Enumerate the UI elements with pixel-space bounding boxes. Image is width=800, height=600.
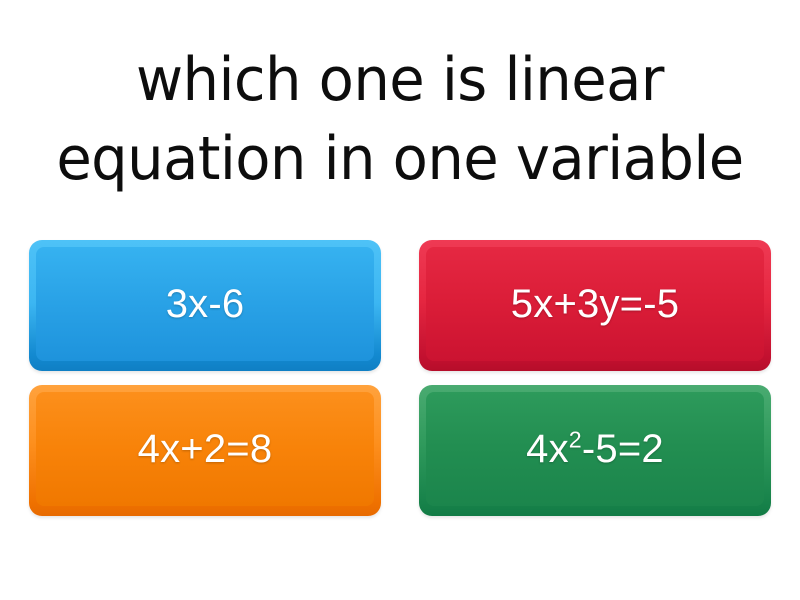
answer-option-c-label: 4x+2=8 bbox=[138, 429, 273, 469]
answer-option-b[interactable]: 5x+3y=-5 bbox=[419, 240, 771, 371]
question-text: which one is linear equation in one vari… bbox=[56, 41, 743, 199]
answer-option-b-label: 5x+3y=-5 bbox=[511, 284, 679, 324]
answer-option-a-face: 3x-6 bbox=[36, 247, 374, 361]
answer-option-a[interactable]: 3x-6 bbox=[29, 240, 381, 371]
answer-option-d-label: 4x2-5=2 bbox=[526, 429, 664, 469]
answer-option-d-base: 4x bbox=[526, 427, 569, 471]
answer-options-grid: 3x-6 5x+3y=-5 4x+2=8 4x2-5=2 bbox=[29, 240, 771, 516]
answer-option-b-face: 5x+3y=-5 bbox=[426, 247, 764, 361]
answer-option-d[interactable]: 4x2-5=2 bbox=[419, 385, 771, 516]
answer-option-d-face: 4x2-5=2 bbox=[426, 392, 764, 506]
answer-option-c[interactable]: 4x+2=8 bbox=[29, 385, 381, 516]
question-area: which one is linear equation in one vari… bbox=[0, 0, 800, 240]
answer-option-d-suffix: -5=2 bbox=[582, 427, 664, 471]
quiz-screen: which one is linear equation in one vari… bbox=[0, 0, 800, 600]
answer-option-a-label: 3x-6 bbox=[166, 284, 245, 324]
answer-option-d-exponent: 2 bbox=[569, 427, 582, 453]
answer-option-c-face: 4x+2=8 bbox=[36, 392, 374, 506]
